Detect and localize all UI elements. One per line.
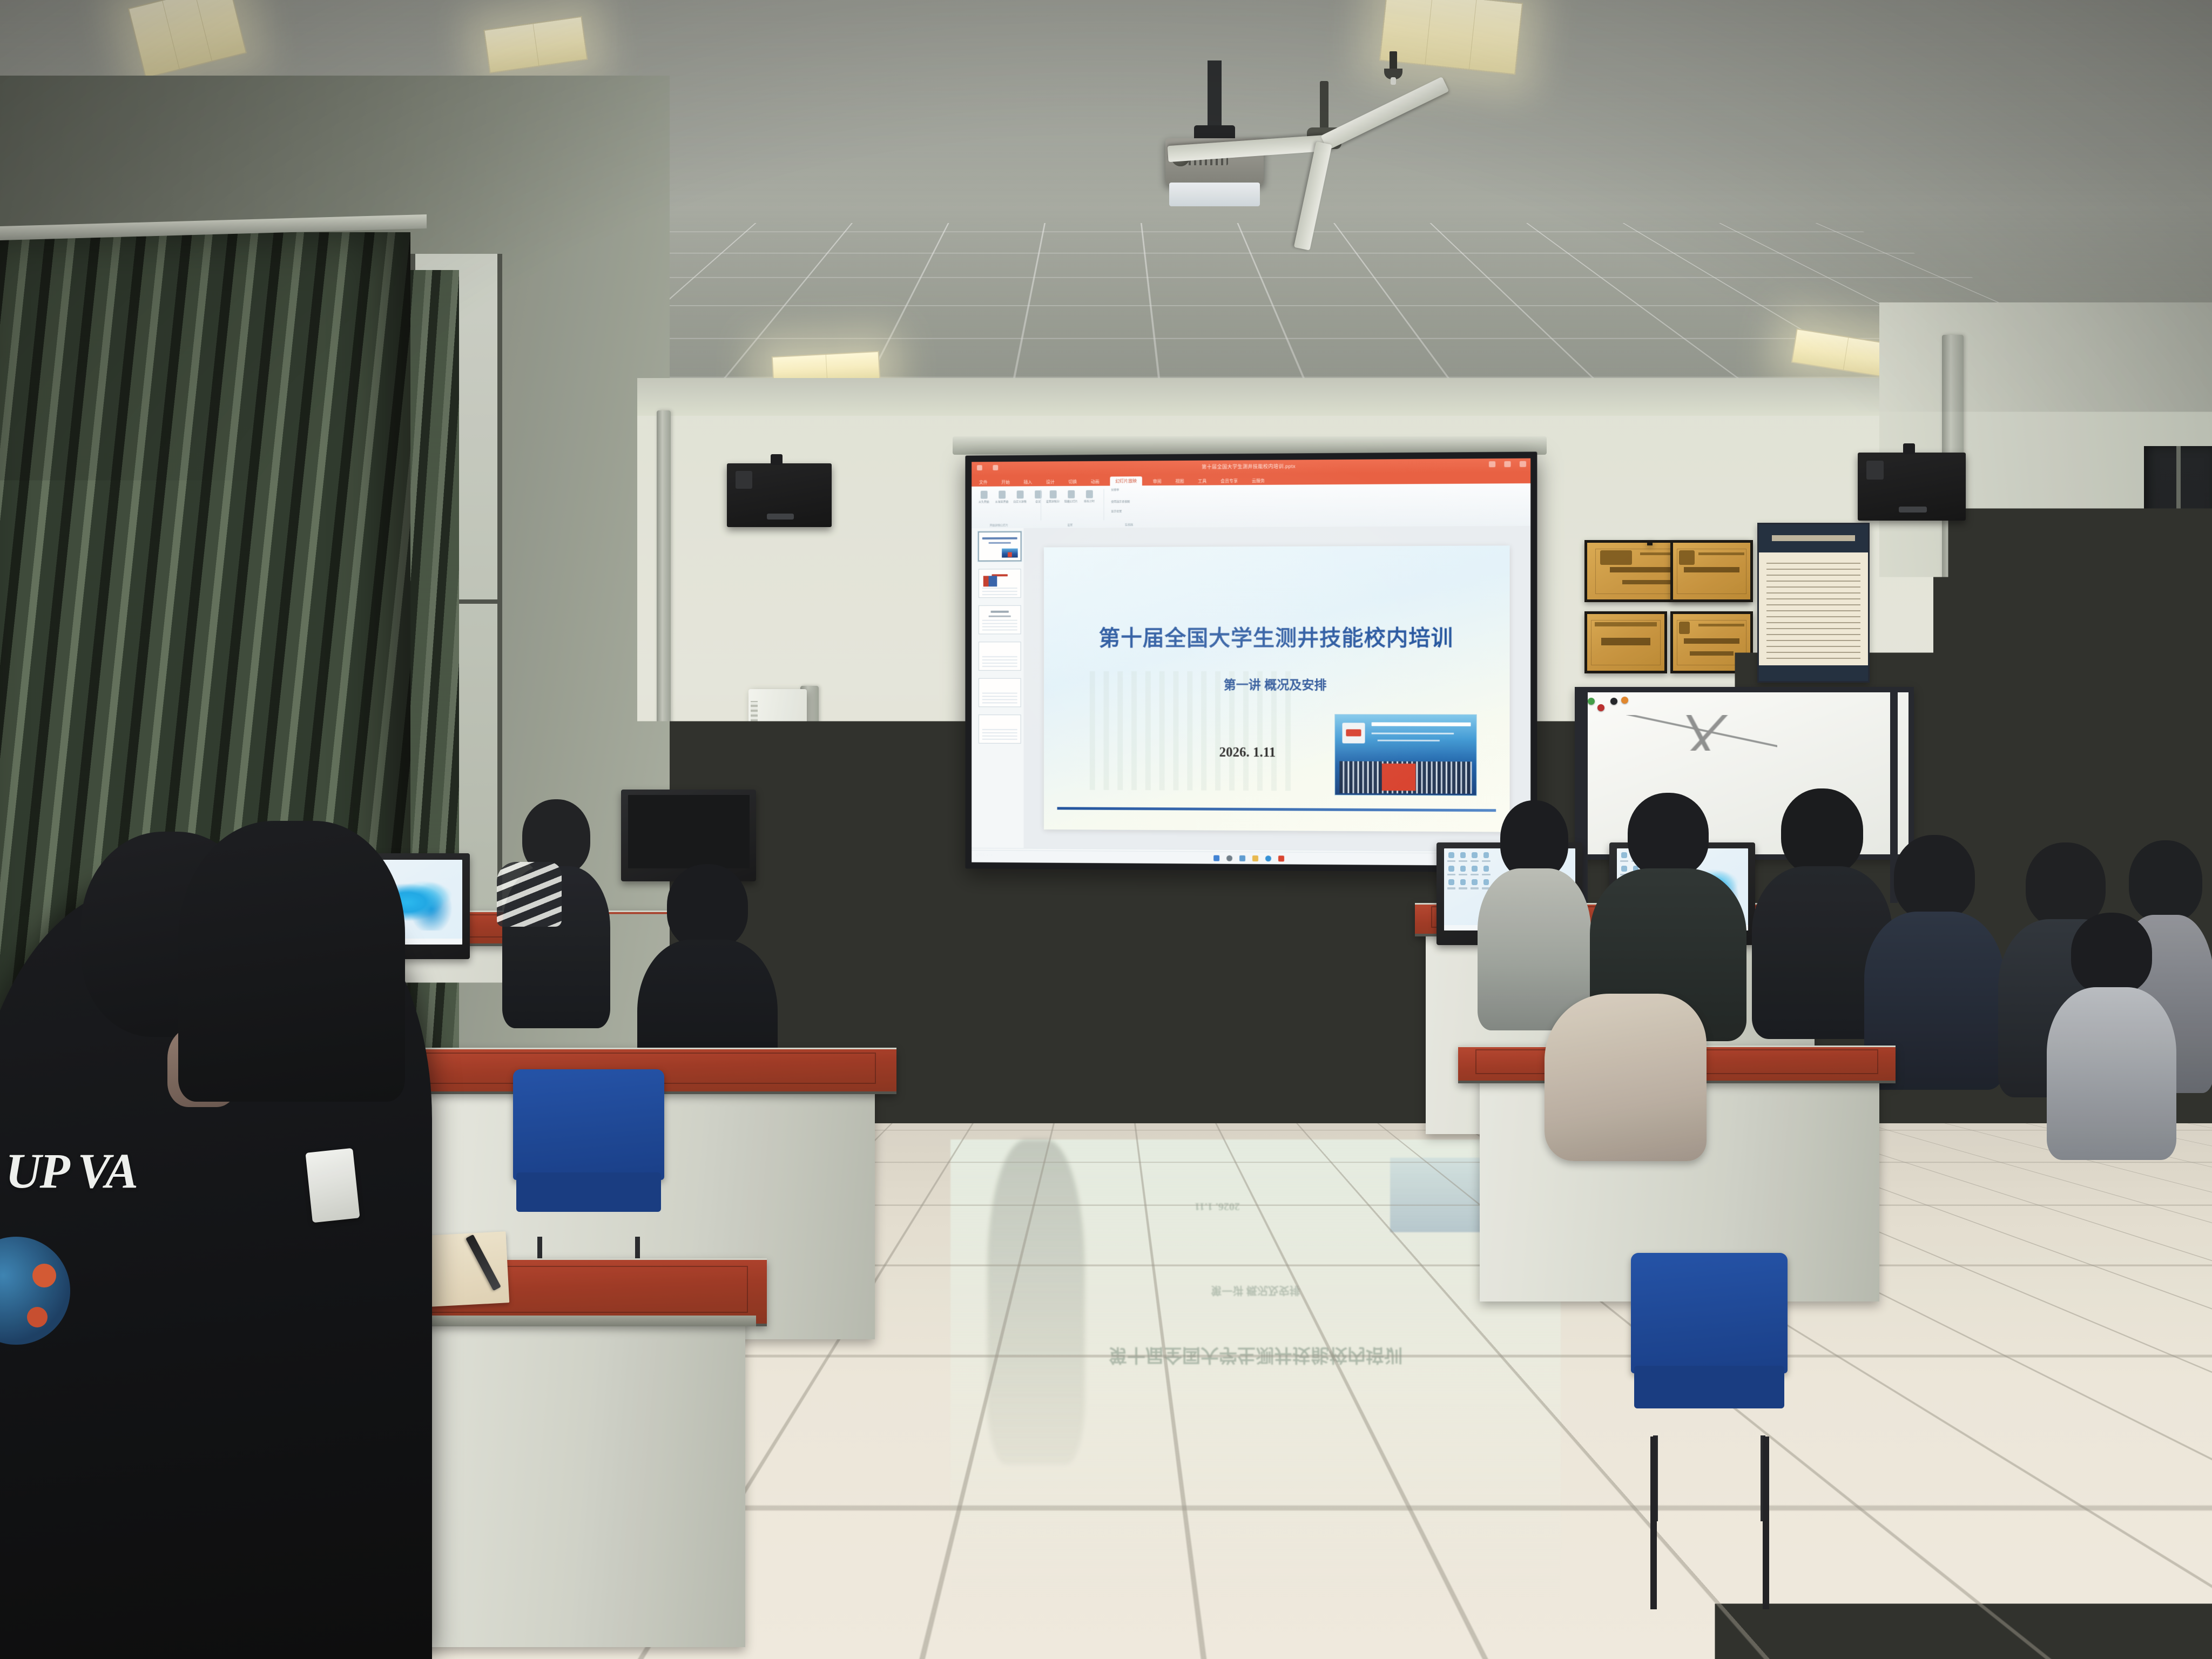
hoodie-graphic-dots [27,1307,48,1327]
ppt-undo-icon[interactable] [993,465,998,470]
tab-transition[interactable]: 切换 [1065,478,1080,486]
student-far-left [178,821,405,1102]
jacket-on-chair [1545,994,1707,1161]
student-left-1-stripes [497,862,562,927]
speaker-bracket [1903,443,1915,454]
notice-board-header [1759,524,1868,552]
dialog-text [2047,1145,2119,1151]
slide-thumbnail[interactable]: 2 [979,569,1021,598]
speaker-driver [1866,461,1884,480]
ppt-save-icon[interactable] [977,465,982,470]
speaker-driver [736,471,752,489]
whiteboard-handwriting [1626,715,1777,751]
classroom-photo: 第十届全国大学生测井技能校内培训.pptx 文件 开始 插入 设计 切换 动画 … [0,0,2212,1659]
air-conditioner-cabinet [748,689,807,889]
desk-body-right-front [1825,1318,2212,1642]
slide-date: 2026. 1.11 [1219,745,1276,760]
student-right-4 [1864,835,2005,1062]
tab-insert[interactable]: 插入 [1021,478,1036,486]
ceiling-fan [1307,81,1341,162]
tab-file[interactable]: 文件 [976,478,990,487]
start-icon[interactable] [1213,855,1219,861]
ppt-maximize-icon[interactable] [1504,461,1510,467]
search-icon[interactable] [1226,855,1232,861]
student-head [1781,788,1863,875]
monitor-right-front[interactable] [1831,1042,2203,1296]
tab-home[interactable]: 开始 [998,478,1013,487]
chair-frame-right-front [1645,1437,1775,1609]
reflection-title: 第十届全国大学生测井技能校内培训 [950,1344,1561,1370]
tab-member[interactable]: 会员专享 [1217,477,1241,485]
speaker-bracket [771,454,783,465]
instructor-hand-right [1093,914,1124,947]
sprinkler-icon [1382,51,1404,89]
dialog-ok-button[interactable] [2090,1169,2121,1181]
slide-thumbnail[interactable]: 1 [978,531,1022,562]
poster-subtitle-bar [1372,732,1454,734]
slide-thumbnail[interactable]: 4 [979,642,1021,671]
student-right-1 [1478,800,1591,1016]
ribbon-meeting[interactable]: 会议 [1031,488,1045,504]
poster-logo-icon [1342,723,1365,744]
ribbon-display-where[interactable]: 显示位置 [1111,509,1144,514]
desktop-dialog[interactable] [2037,1118,2129,1189]
reflection-date: 2026. 1.11 [1195,1200,1240,1212]
poster-title-bar [1372,722,1471,726]
projector [1165,60,1264,212]
award-plaque-top-right [1670,540,1753,602]
chair-left-mid[interactable] [513,1069,664,1247]
ribbon-from-start[interactable]: 从头开始 [977,489,991,504]
notice-board-text [1766,559,1860,659]
ppt-document-name: 第十届全国大学生测井技能校内培训.pptx [1202,462,1296,470]
tab-review[interactable]: 审阅 [1150,477,1165,485]
ribbon-group-label-monitor: 监视器 [1125,523,1133,527]
ppt-ribbon[interactable]: 从头开始 从当前开始 自定义放映 会议 开始放映幻灯片 设置放映方式 隐藏幻灯片… [972,483,1530,529]
slide-thumbnail[interactable]: 3 [979,605,1021,635]
tab-animation[interactable]: 动画 [1088,478,1103,486]
tab-cloud[interactable]: 云服务 [1249,477,1268,485]
keyboard-right-front[interactable] [1928,1296,2212,1355]
dialog-titlebar [2038,1119,2128,1134]
edge-icon[interactable] [1265,855,1271,861]
ribbon-rehearse[interactable]: 排练计时 [1082,488,1096,504]
ac-vent-slit [773,741,778,837]
ppt-close-icon[interactable] [1520,461,1526,467]
hoodie-graphic-dots [32,1264,56,1287]
reflection-instructor [987,1139,1085,1465]
student-head [2071,913,2152,995]
magnet-black-icon[interactable] [1610,698,1617,705]
ribbon-from-current[interactable]: 从当前开始 [995,489,1009,504]
slide-title: 第十届全国大学生测井技能校内培训 [1043,620,1510,652]
hoodie-graphic: UP VA [5,1145,178,1253]
speaker-port [767,514,794,520]
tab-design[interactable]: 设计 [1043,478,1058,486]
explorer-icon[interactable] [1252,855,1258,861]
student-head [667,864,748,949]
magnet-red-icon[interactable] [1597,704,1604,711]
student-head [1894,835,1975,920]
podium-desk [893,925,1088,948]
wall-power-outlet[interactable] [1231,949,1258,973]
right-window-mullion [2144,582,2212,586]
slide-bottom-rule [1057,807,1496,812]
award-plaque-bottom-right [1670,611,1753,673]
tab-slideshow[interactable]: 幻灯片放映 [1110,476,1142,485]
ribbon-resolution[interactable]: 分辨率 [1111,488,1140,493]
instructor-glasses-icon [1007,713,1067,728]
phone-in-pocket[interactable] [305,1148,360,1223]
wall-speaker-right [1858,453,1966,521]
student-right-2 [1590,793,1746,1020]
magnet-green-icon[interactable] [1588,698,1595,705]
student-head [2129,840,2202,922]
notice-board [1757,523,1870,683]
award-plaque-top-right [1647,540,1653,545]
ribbon-hide-slide[interactable]: 隐藏幻灯片 [1064,488,1078,504]
notice-board-footer [1759,665,1868,681]
wall-speaker-left [727,463,832,527]
ribbon-custom-show[interactable]: 自定义放映 [1013,488,1027,504]
conference-poster-image [1334,714,1476,796]
slide-subtitle: 第一讲 概况及安排 [1043,675,1510,693]
projector-pole [1208,60,1222,130]
ribbon-group-label-setup: 设置 [1067,523,1073,527]
chat-icon[interactable] [1239,855,1245,861]
podium-body [901,940,1079,1166]
wps-icon[interactable] [1278,855,1284,861]
ribbon-presenter-view[interactable]: 使用演示者视图 [1111,500,1144,504]
floor-slide-reflection: 2026. 1.11 第一讲 概况及安排 第十届全国大学生测井技能校内培训 [950,1139,1561,1604]
current-slide: 第十届全国大学生测井技能校内培训 第一讲 概况及安排 2026. 1.11 [1043,545,1510,832]
tab-view[interactable]: 视图 [1172,477,1187,485]
reflection-subtitle: 第一讲 概况及安排 [950,1284,1561,1299]
desktop-taskbar[interactable] [1850,1246,2185,1260]
tab-tools[interactable]: 工具 [1195,477,1210,485]
poster-subtitle-bar-2 [1378,740,1440,741]
award-plaque-bottom-left [1584,611,1667,673]
ppt-minimize-icon[interactable] [1489,461,1495,467]
chair-right-front[interactable] [1631,1253,1788,1447]
front-wall-top-band [637,378,1933,416]
fan-rod [1320,81,1328,131]
student-head [1500,800,1568,879]
poster-red-banner [1381,764,1415,791]
student-head [1628,793,1709,877]
magnet-orange-icon[interactable] [1621,697,1628,704]
speaker-port [1899,507,1927,512]
ribbon-setup-show[interactable]: 设置放映方式 [1046,488,1060,504]
projector-tray [1169,183,1259,206]
ribbon-group-label-show: 开始放映幻灯片 [990,523,1008,527]
